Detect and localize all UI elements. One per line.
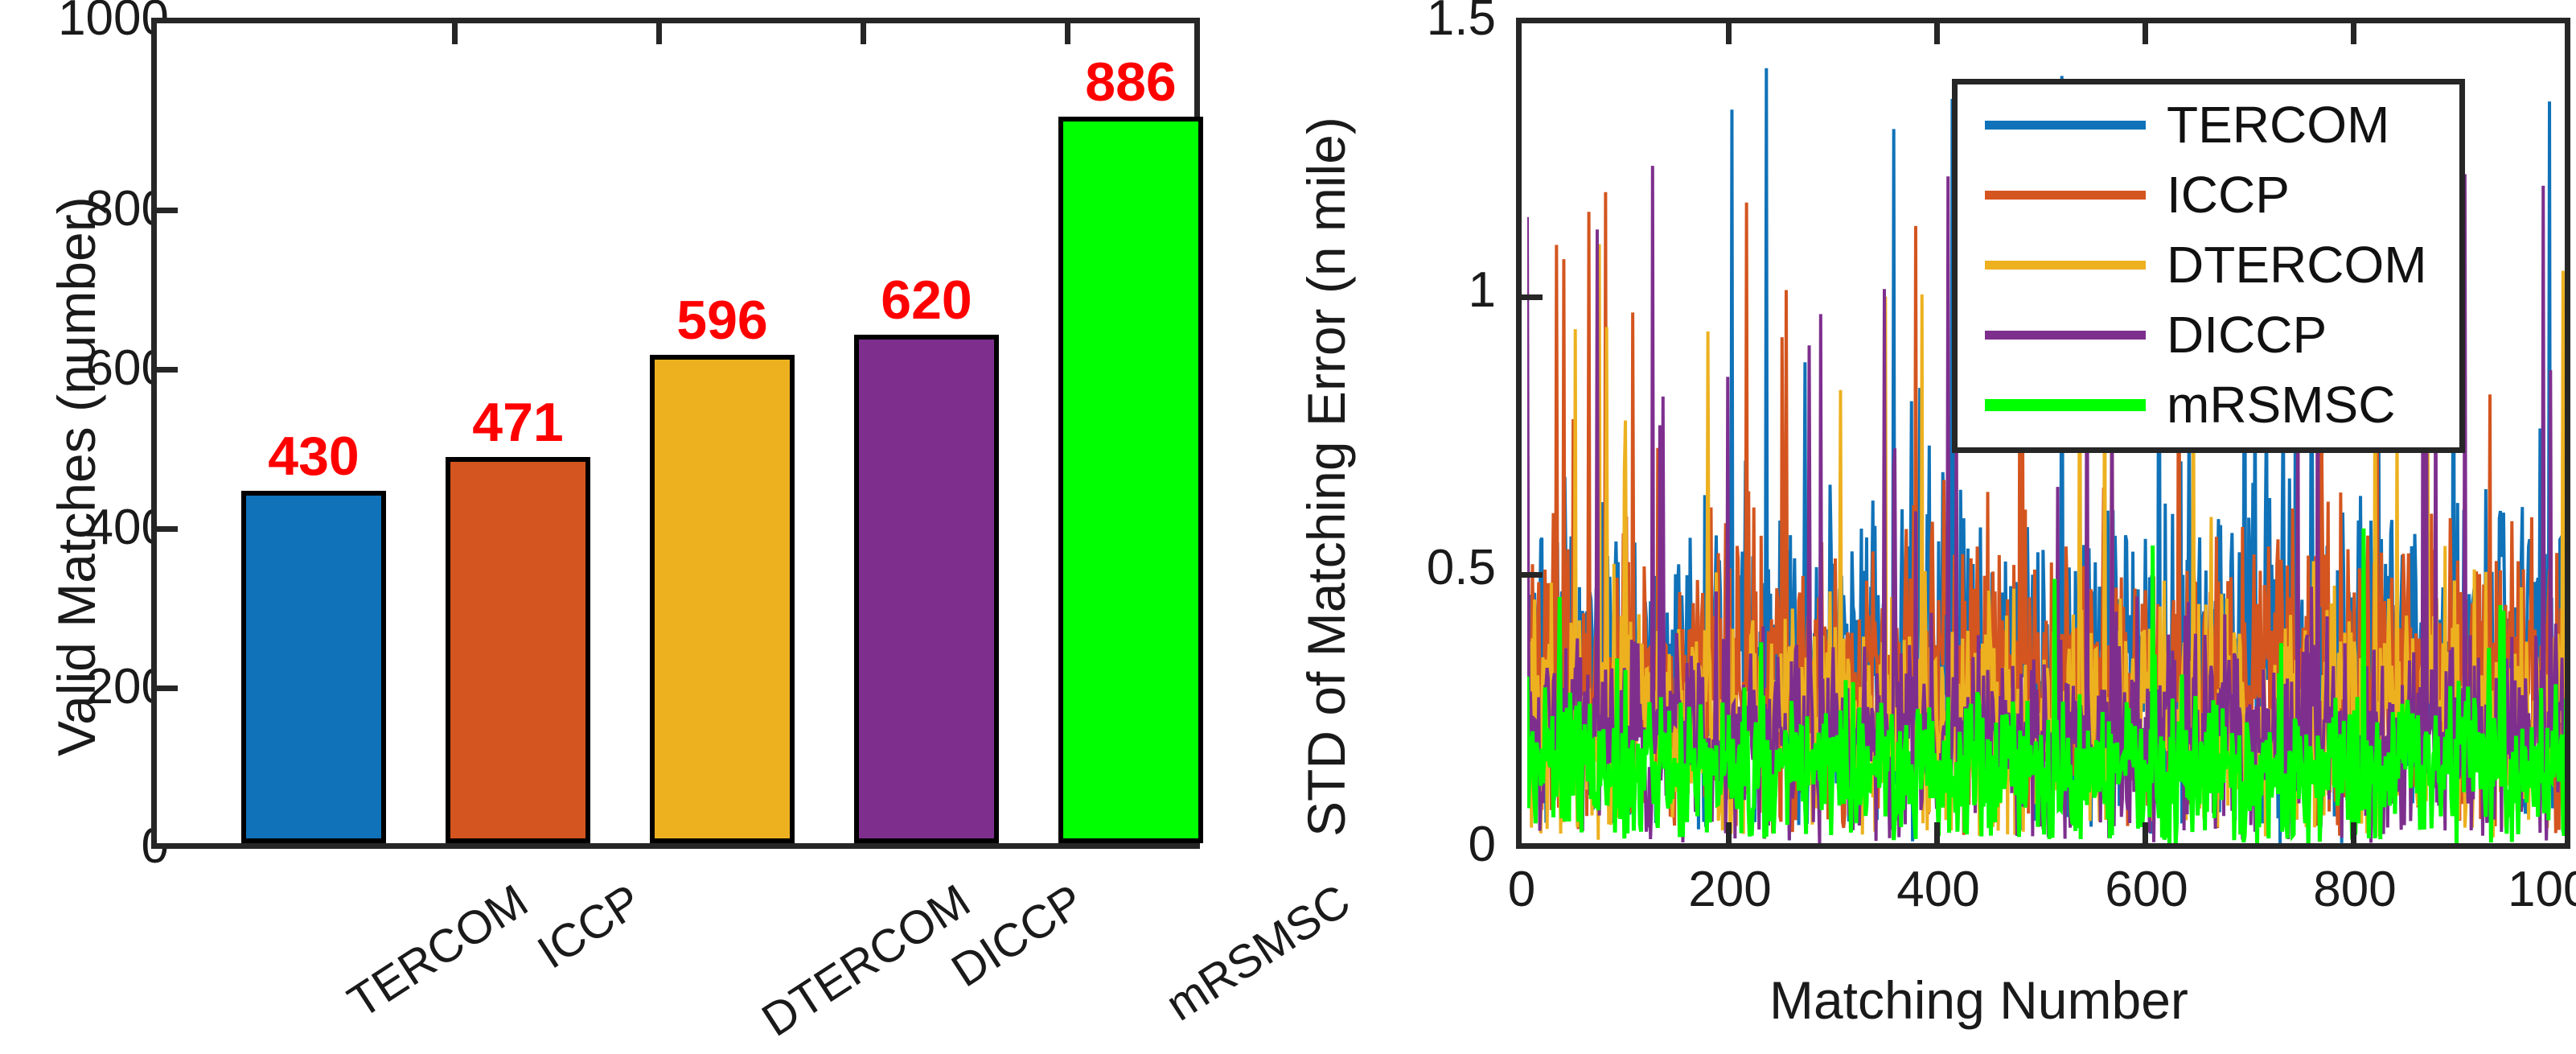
right-xtick-label-200: 200	[1650, 865, 1810, 915]
bar-value-label-iccp: 471	[446, 395, 590, 450]
xtick-label-dtercom: DTERCOM	[754, 877, 977, 1044]
bar-value-label-dtercom: 596	[650, 293, 795, 348]
right-top-tick-200	[1726, 23, 1732, 44]
left-ytick-mark-800	[157, 208, 178, 213]
left-ytick-mark-600	[157, 367, 178, 373]
right-bottom-tick-200	[1726, 822, 1732, 843]
left-ytick-mark-200	[157, 686, 178, 691]
right-line-chart-panel: STD of Matching Error (n mile) 1.5 1 0.5…	[1255, 0, 2576, 1054]
left-top-tick-1	[452, 23, 458, 44]
left-top-tick-2	[656, 23, 662, 44]
right-ytick-mark-0p5	[1522, 572, 1543, 578]
bar-dtercom[interactable]	[650, 355, 795, 843]
xtick-label-diccp: DICCP	[944, 877, 1091, 995]
left-top-tick-3	[861, 23, 866, 44]
left-ytick-label-200: 200	[0, 662, 169, 712]
right-xtick-label-600: 600	[2066, 865, 2227, 915]
legend-label-mrsmsc: mRSMSC	[2167, 379, 2395, 430]
right-plot-box: TERCOM ICCP DTERCOM DICCP mRSMSC	[1516, 18, 2570, 849]
bar-diccp[interactable]	[854, 335, 999, 843]
legend-swatch-mrsmsc	[1985, 399, 2146, 411]
bar-mrsmsc[interactable]	[1058, 117, 1203, 843]
figure-root: Valid Matches (number) 1000 800 600 400 …	[0, 0, 2576, 1054]
left-ytick-label-1000: 1000	[0, 0, 169, 43]
legend-item-dtercom[interactable]: DTERCOM	[1985, 239, 2427, 290]
right-top-tick-600	[2143, 23, 2148, 44]
right-ytick-label-0: 0	[1319, 820, 1496, 870]
right-top-tick-400	[1934, 23, 1940, 44]
left-ytick-label-0: 0	[0, 821, 169, 871]
right-y-axis-title: STD of Matching Error (n mile)	[1300, 117, 1353, 837]
bar-value-label-mrsmsc: 886	[1058, 55, 1203, 109]
right-xtick-label-0: 0	[1441, 865, 1602, 915]
left-ytick-label-400: 400	[0, 503, 169, 553]
xtick-label-tercom: TERCOM	[341, 877, 536, 1027]
xtick-label-iccp: ICCP	[530, 877, 649, 977]
legend-label-tercom: TERCOM	[2167, 99, 2389, 150]
right-x-axis-title: Matching Number	[1769, 974, 2188, 1027]
right-xtick-label-800: 800	[2274, 865, 2435, 915]
bar-iccp[interactable]	[446, 457, 590, 843]
legend-item-tercom[interactable]: TERCOM	[1985, 99, 2389, 150]
left-plot-box: 430 471 596 620 886	[151, 18, 1200, 849]
legend-swatch-iccp	[1985, 191, 2146, 200]
legend-item-diccp[interactable]: DICCP	[1985, 309, 2327, 360]
right-bottom-tick-600	[2143, 822, 2148, 843]
legend-label-diccp: DICCP	[2167, 309, 2327, 360]
left-ytick-label-600: 600	[0, 344, 169, 393]
legend-swatch-tercom	[1985, 121, 2146, 130]
right-ytick-label-1: 1	[1319, 266, 1496, 315]
right-bottom-tick-800	[2351, 822, 2356, 843]
legend-label-iccp: ICCP	[2167, 169, 2290, 220]
left-ytick-mark-400	[157, 526, 178, 532]
left-top-tick-4	[1065, 23, 1070, 44]
legend[interactable]: TERCOM ICCP DTERCOM DICCP mRSMSC	[1952, 79, 2465, 453]
legend-swatch-dtercom	[1985, 261, 2146, 270]
bar-value-label-diccp: 620	[854, 273, 999, 327]
right-xtick-label-1000: 1000	[2483, 865, 2576, 915]
left-ytick-label-800: 800	[0, 184, 169, 234]
legend-item-iccp[interactable]: ICCP	[1985, 169, 2290, 220]
right-ytick-label-0p5: 0.5	[1319, 543, 1496, 593]
right-bottom-tick-400	[1934, 822, 1940, 843]
legend-item-mrsmsc[interactable]: mRSMSC	[1985, 379, 2395, 430]
right-ytick-label-1p5: 1.5	[1319, 0, 1496, 43]
bar-tercom[interactable]	[241, 491, 386, 843]
legend-label-dtercom: DTERCOM	[2167, 239, 2427, 290]
bar-value-label-tercom: 430	[241, 429, 386, 484]
right-xtick-label-400: 400	[1858, 865, 2019, 915]
right-ytick-mark-1	[1522, 294, 1543, 300]
right-top-tick-800	[2351, 23, 2356, 44]
legend-swatch-diccp	[1985, 331, 2146, 340]
left-bar-chart-panel: Valid Matches (number) 1000 800 600 400 …	[0, 0, 1255, 1054]
